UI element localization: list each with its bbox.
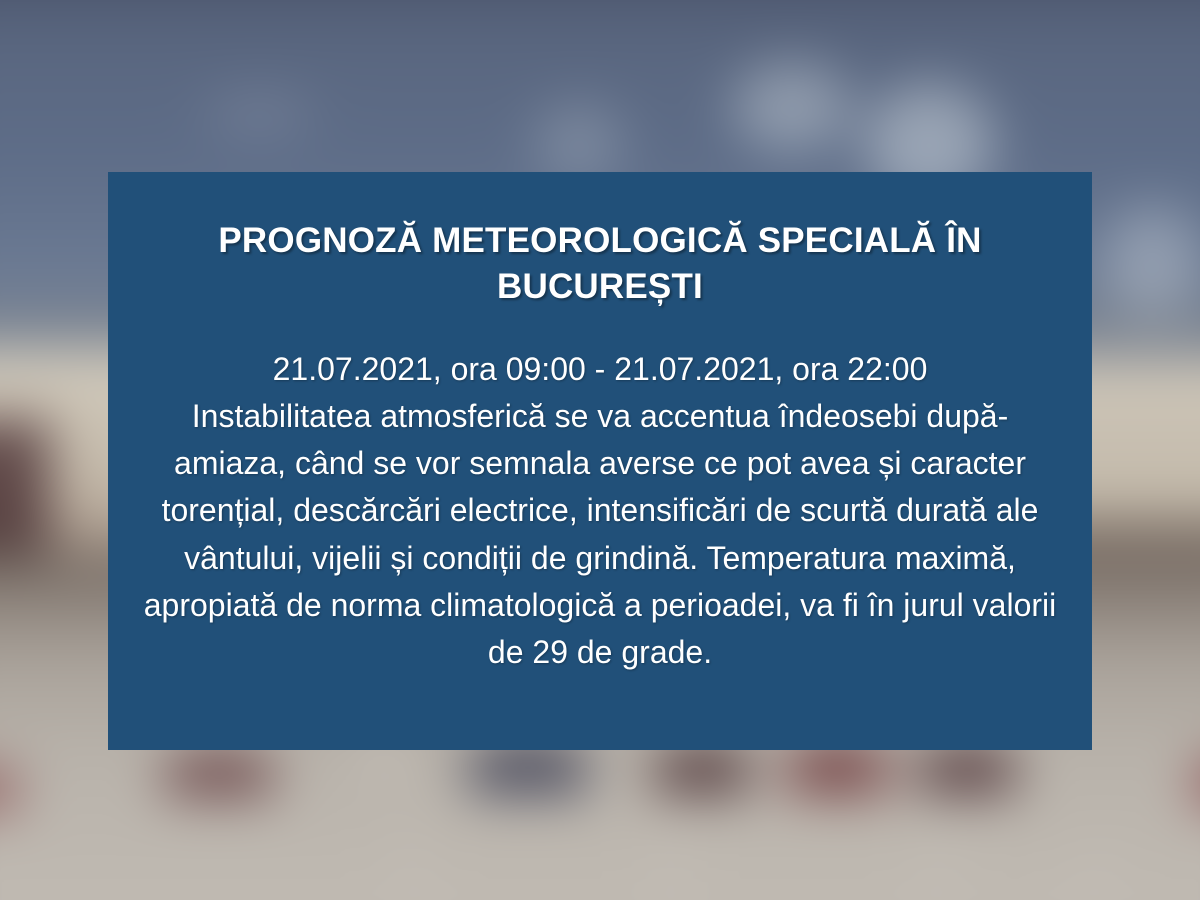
- cloud-shape: [732, 62, 852, 152]
- parked-car-shape: [164, 751, 274, 797]
- forecast-panel: PROGNOZĂ METEOROLOGICĂ SPECIALĂ ÎN BUCUR…: [108, 172, 1092, 750]
- parked-car-shape: [653, 746, 753, 794]
- cloud-shape: [204, 93, 314, 133]
- weather-warning-graphic: PROGNOZĂ METEOROLOGICĂ SPECIALĂ ÎN BUCUR…: [0, 0, 1200, 900]
- forecast-body-text: 21.07.2021, ora 09:00 - 21.07.2021, ora …: [140, 310, 1060, 675]
- parked-car-shape: [917, 746, 1017, 794]
- cloud-shape: [1102, 205, 1200, 315]
- forecast-title: PROGNOZĂ METEOROLOGICĂ SPECIALĂ ÎN BUCUR…: [140, 218, 1060, 310]
